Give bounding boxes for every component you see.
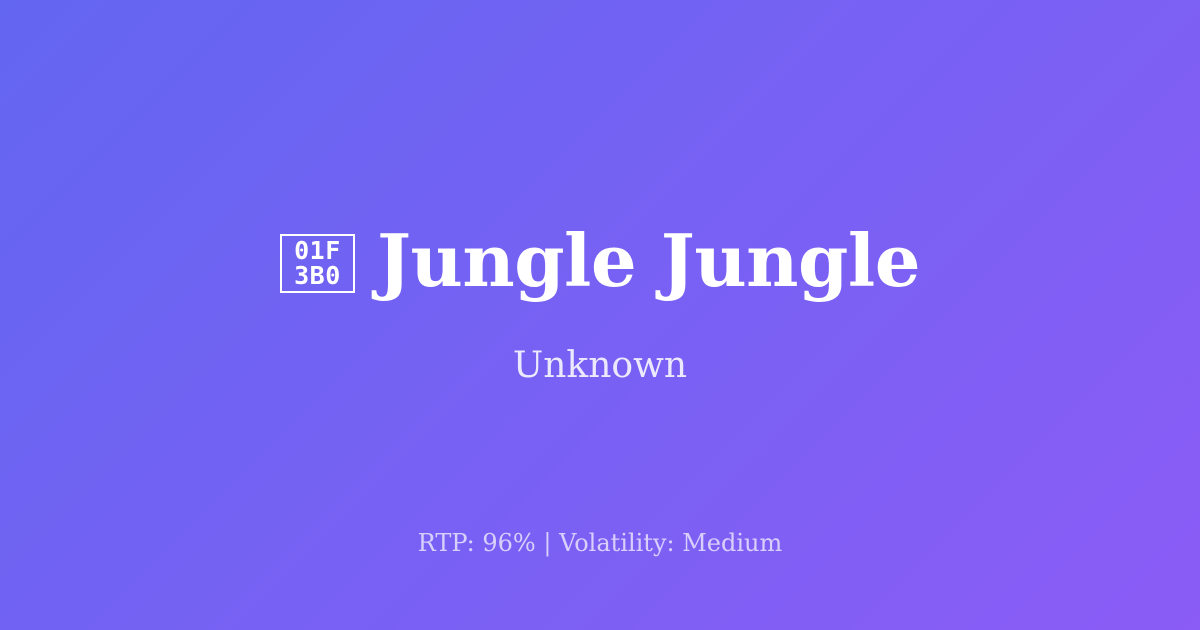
slot-machine-icon-hex-top: 01F bbox=[294, 238, 341, 263]
footer: RTP: 96% | Volatility: Medium bbox=[0, 529, 1200, 557]
slot-machine-icon: 01F 3B0 bbox=[280, 234, 355, 293]
game-share-card: 01F 3B0 Jungle Jungle Unknown RTP: 96% |… bbox=[0, 0, 1200, 630]
game-provider-subtitle: Unknown bbox=[513, 345, 687, 386]
title-row: 01F 3B0 Jungle Jungle bbox=[280, 225, 920, 297]
page-title: Jungle Jungle bbox=[377, 225, 920, 297]
slot-machine-icon-hex-bottom: 3B0 bbox=[294, 263, 341, 288]
hero-block: 01F 3B0 Jungle Jungle Unknown bbox=[0, 225, 1200, 386]
game-stats-line: RTP: 96% | Volatility: Medium bbox=[0, 529, 1200, 557]
